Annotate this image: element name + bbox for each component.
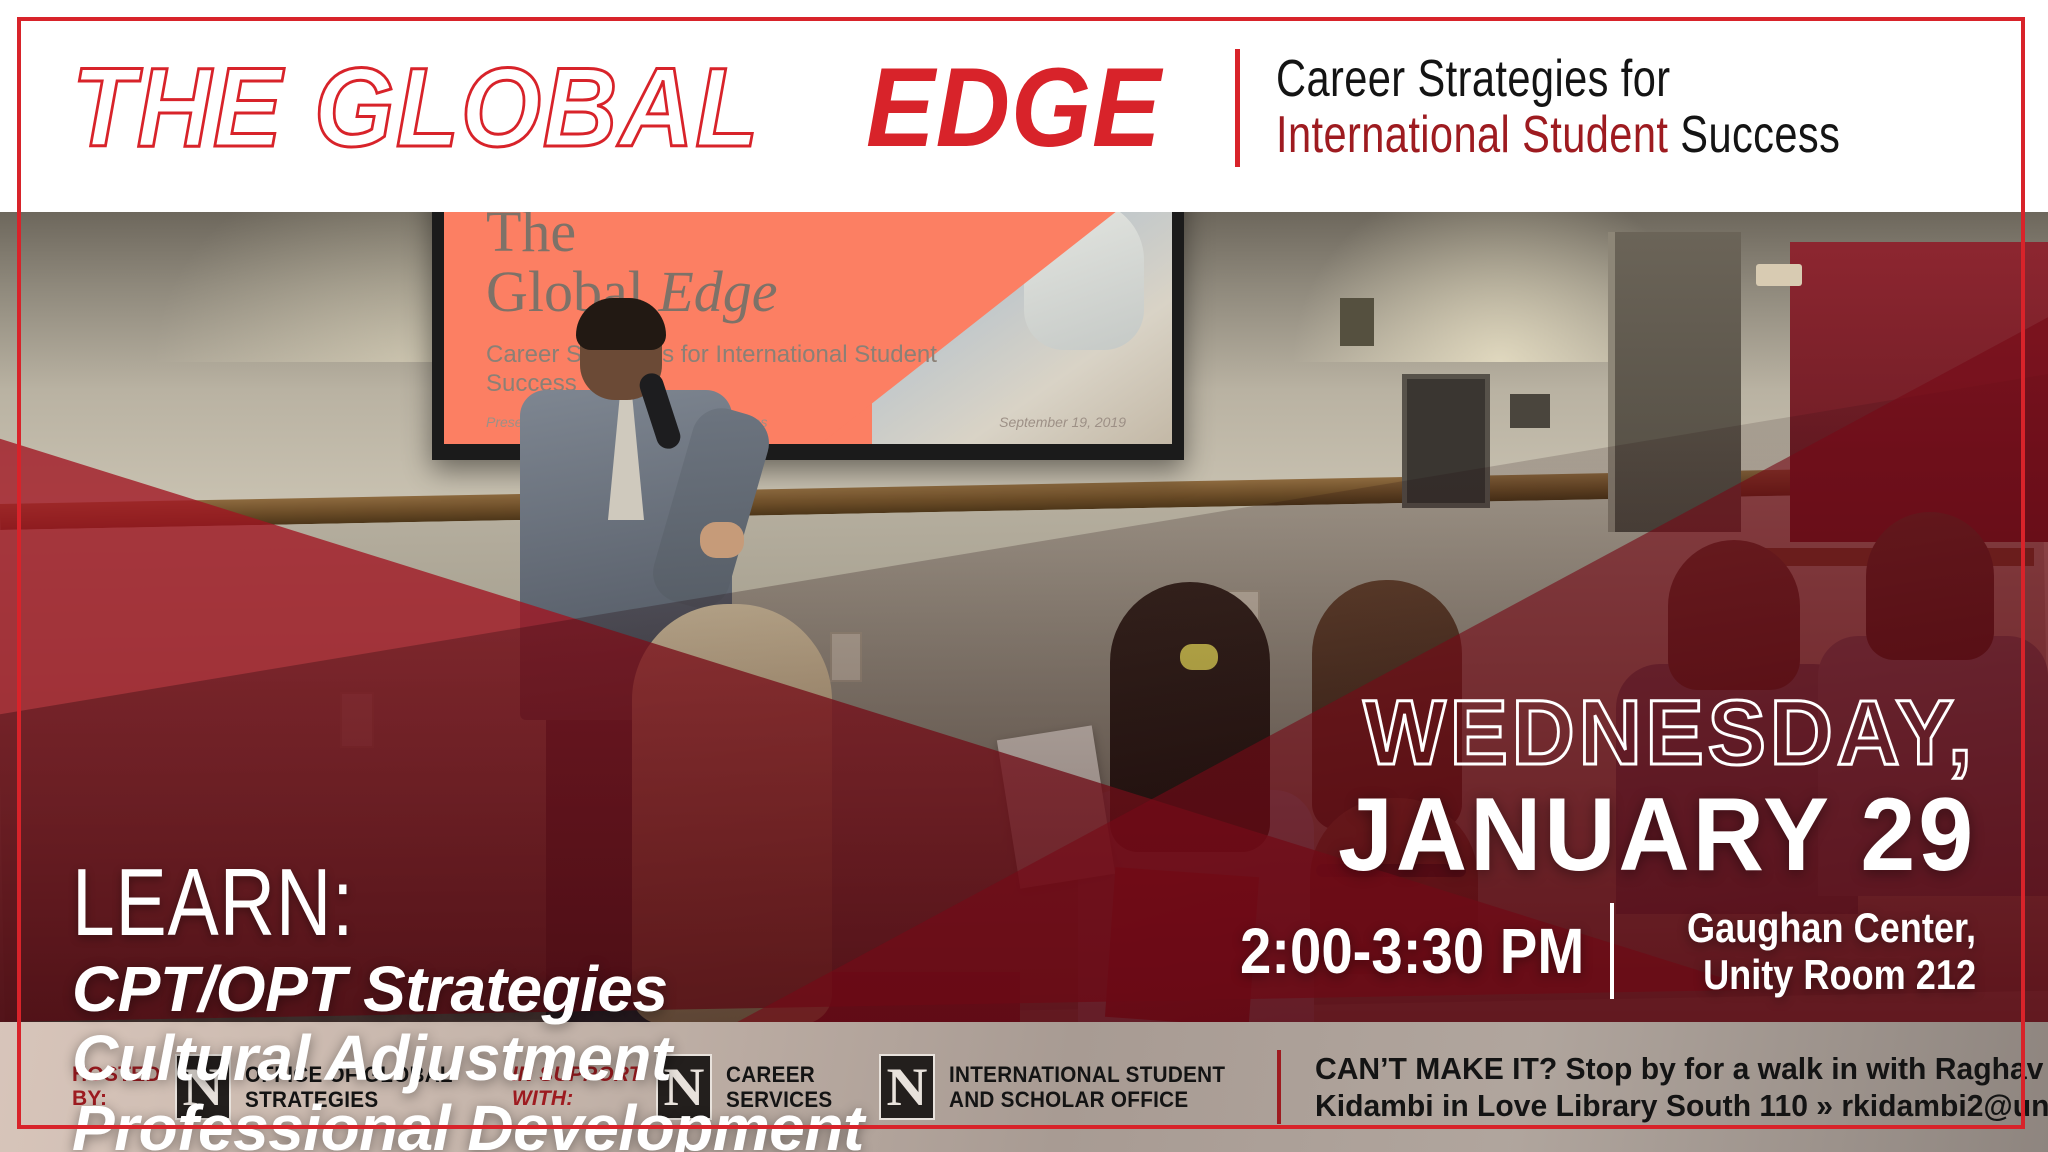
audience-member-man-1 [1668,540,1800,690]
event-location: Gaughan Center, Unity Room 212 [1687,904,1976,1000]
support-org-2-line-2: AND SCHOLAR OFFICE [949,1087,1225,1112]
learn-topic: CPT/OPT Strategies [72,955,864,1025]
presenter-hand [700,522,744,558]
learn-topic: Cultural Adjustment [72,1024,864,1094]
footer-divider [1277,1050,1281,1124]
wall-speaker [1340,298,1374,346]
event-time: 2:00-3:30 PM [1240,914,1584,988]
tagline-suffix: Success [1669,106,1841,164]
learn-topic-list: CPT/OPT Strategies Cultural Adjustment P… [72,955,864,1152]
support-org-2-line-1: INTERNATIONAL STUDENT [949,1062,1225,1087]
header-tagline: Career Strategies for International Stud… [1276,52,1981,163]
hair-clip [1180,644,1218,670]
learn-heading: LEARN: [72,862,705,945]
presenter-hair [576,298,666,350]
event-location-line-1: Gaughan Center, [1687,904,1976,952]
audience-member-man-2 [1866,512,1994,660]
red-wall-section [1790,242,2048,542]
slide-credit-right: September 19, 2019 [999,414,1126,430]
header-content: THE GLOBAL EDGE Career Strategies for In… [72,34,1976,182]
logo-the-global: THE GLOBAL [72,52,760,164]
header-band: THE GLOBAL EDGE Career Strategies for In… [0,0,2048,212]
wall-panel-small [1510,394,1550,428]
time-location-divider [1610,903,1614,999]
walk-in-note-line-2: Kidambi in Love Library South 110 » rkid… [1315,1087,2048,1124]
nebraska-n-logo-icon [879,1054,935,1120]
wall-outlet-c [340,692,374,748]
walk-in-note: CAN’T MAKE IT? Stop by for a walk in wit… [1315,1050,2048,1124]
event-flyer: The Global Edge Career Strategies for In… [0,0,2048,1152]
event-details: WEDNESDAY, JANUARY 29 2:00-3:30 PM Gaugh… [1236,690,1976,999]
walk-in-note-line-1: CAN’T MAKE IT? Stop by for a walk in wit… [1315,1050,2048,1087]
exit-sign [1756,264,1802,286]
slide-title-line1: The [486,212,778,262]
event-location-line-2: Unity Room 212 [1687,951,1976,999]
wall-outlet-a [830,632,862,682]
tagline-line-1: Career Strategies for [1276,52,1840,108]
learn-topic: Professional Development [72,1094,864,1152]
room-door [1608,232,1741,532]
logo-edge: EDGE [866,52,1162,164]
event-time-location-row: 2:00-3:30 PM Gaughan Center, Unity Room … [1236,903,1976,999]
learn-section: LEARN: CPT/OPT Strategies Cultural Adjus… [72,862,864,1152]
wall-control-panel [1402,374,1490,508]
tagline-line-2: International Student Success [1276,108,1840,164]
event-date: JANUARY 29 [1273,783,1976,887]
event-weekday: WEDNESDAY, [1273,690,1976,777]
tagline-highlight: International Student [1276,106,1668,164]
header-divider [1235,49,1240,167]
support-org-2-name: INTERNATIONAL STUDENT AND SCHOLAR OFFICE [949,1062,1225,1112]
